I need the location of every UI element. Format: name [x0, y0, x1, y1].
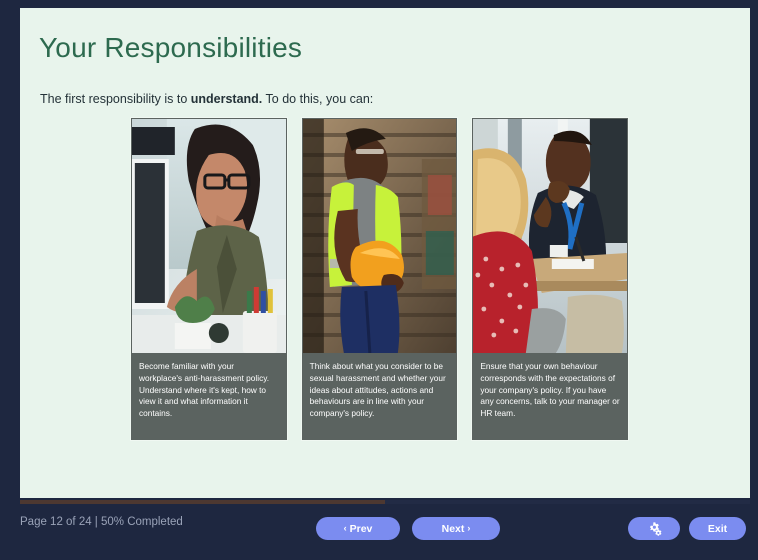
responsibility-card: Become familiar with your workplace's an… — [131, 118, 287, 440]
page-title: Your Responsibilities — [39, 32, 302, 64]
card-caption: Think about what you consider to be sexu… — [303, 353, 457, 439]
card-caption: Ensure that your own behaviour correspon… — [473, 353, 627, 439]
course-player: Your Responsibilities The first responsi… — [0, 0, 758, 560]
chevron-right-icon: › — [467, 524, 470, 533]
next-button[interactable]: Next › — [412, 517, 500, 540]
player-footer: Page 12 of 24 | 50% Completed ‹ Prev Nex… — [0, 506, 758, 560]
woman-at-computer-photo — [132, 119, 286, 353]
navigation-controls: ‹ Prev Next › — [316, 517, 500, 540]
prev-button-label: Prev — [350, 523, 373, 535]
gears-icon — [647, 521, 662, 536]
responsibility-card: Think about what you consider to be sexu… — [302, 118, 458, 440]
card-caption: Become familiar with your workplace's an… — [132, 353, 286, 439]
course-progress-bar — [20, 500, 750, 504]
prev-button[interactable]: ‹ Prev — [316, 517, 400, 540]
responsibility-card: Ensure that your own behaviour correspon… — [472, 118, 628, 440]
slide-subtitle: The first responsibility is to understan… — [40, 92, 373, 106]
course-progress-fill — [20, 500, 385, 504]
page-status: Page 12 of 24 | 50% Completed — [20, 516, 183, 528]
subtitle-emphasis: understand. — [191, 92, 263, 106]
subtitle-text-before: The first responsibility is to — [40, 92, 191, 106]
utility-controls: Exit — [628, 517, 746, 540]
subtitle-text-after: To do this, you can: — [262, 92, 373, 106]
next-button-label: Next — [442, 523, 465, 535]
slide-content: Your Responsibilities The first responsi… — [20, 8, 750, 498]
hr-meeting-photo — [473, 119, 627, 353]
exit-button-label: Exit — [708, 523, 727, 535]
exit-button[interactable]: Exit — [689, 517, 746, 540]
chevron-left-icon: ‹ — [344, 524, 347, 533]
settings-button[interactable] — [628, 517, 680, 540]
warehouse-worker-photo — [303, 119, 457, 353]
responsibility-card-list: Become familiar with your workplace's an… — [131, 118, 628, 440]
